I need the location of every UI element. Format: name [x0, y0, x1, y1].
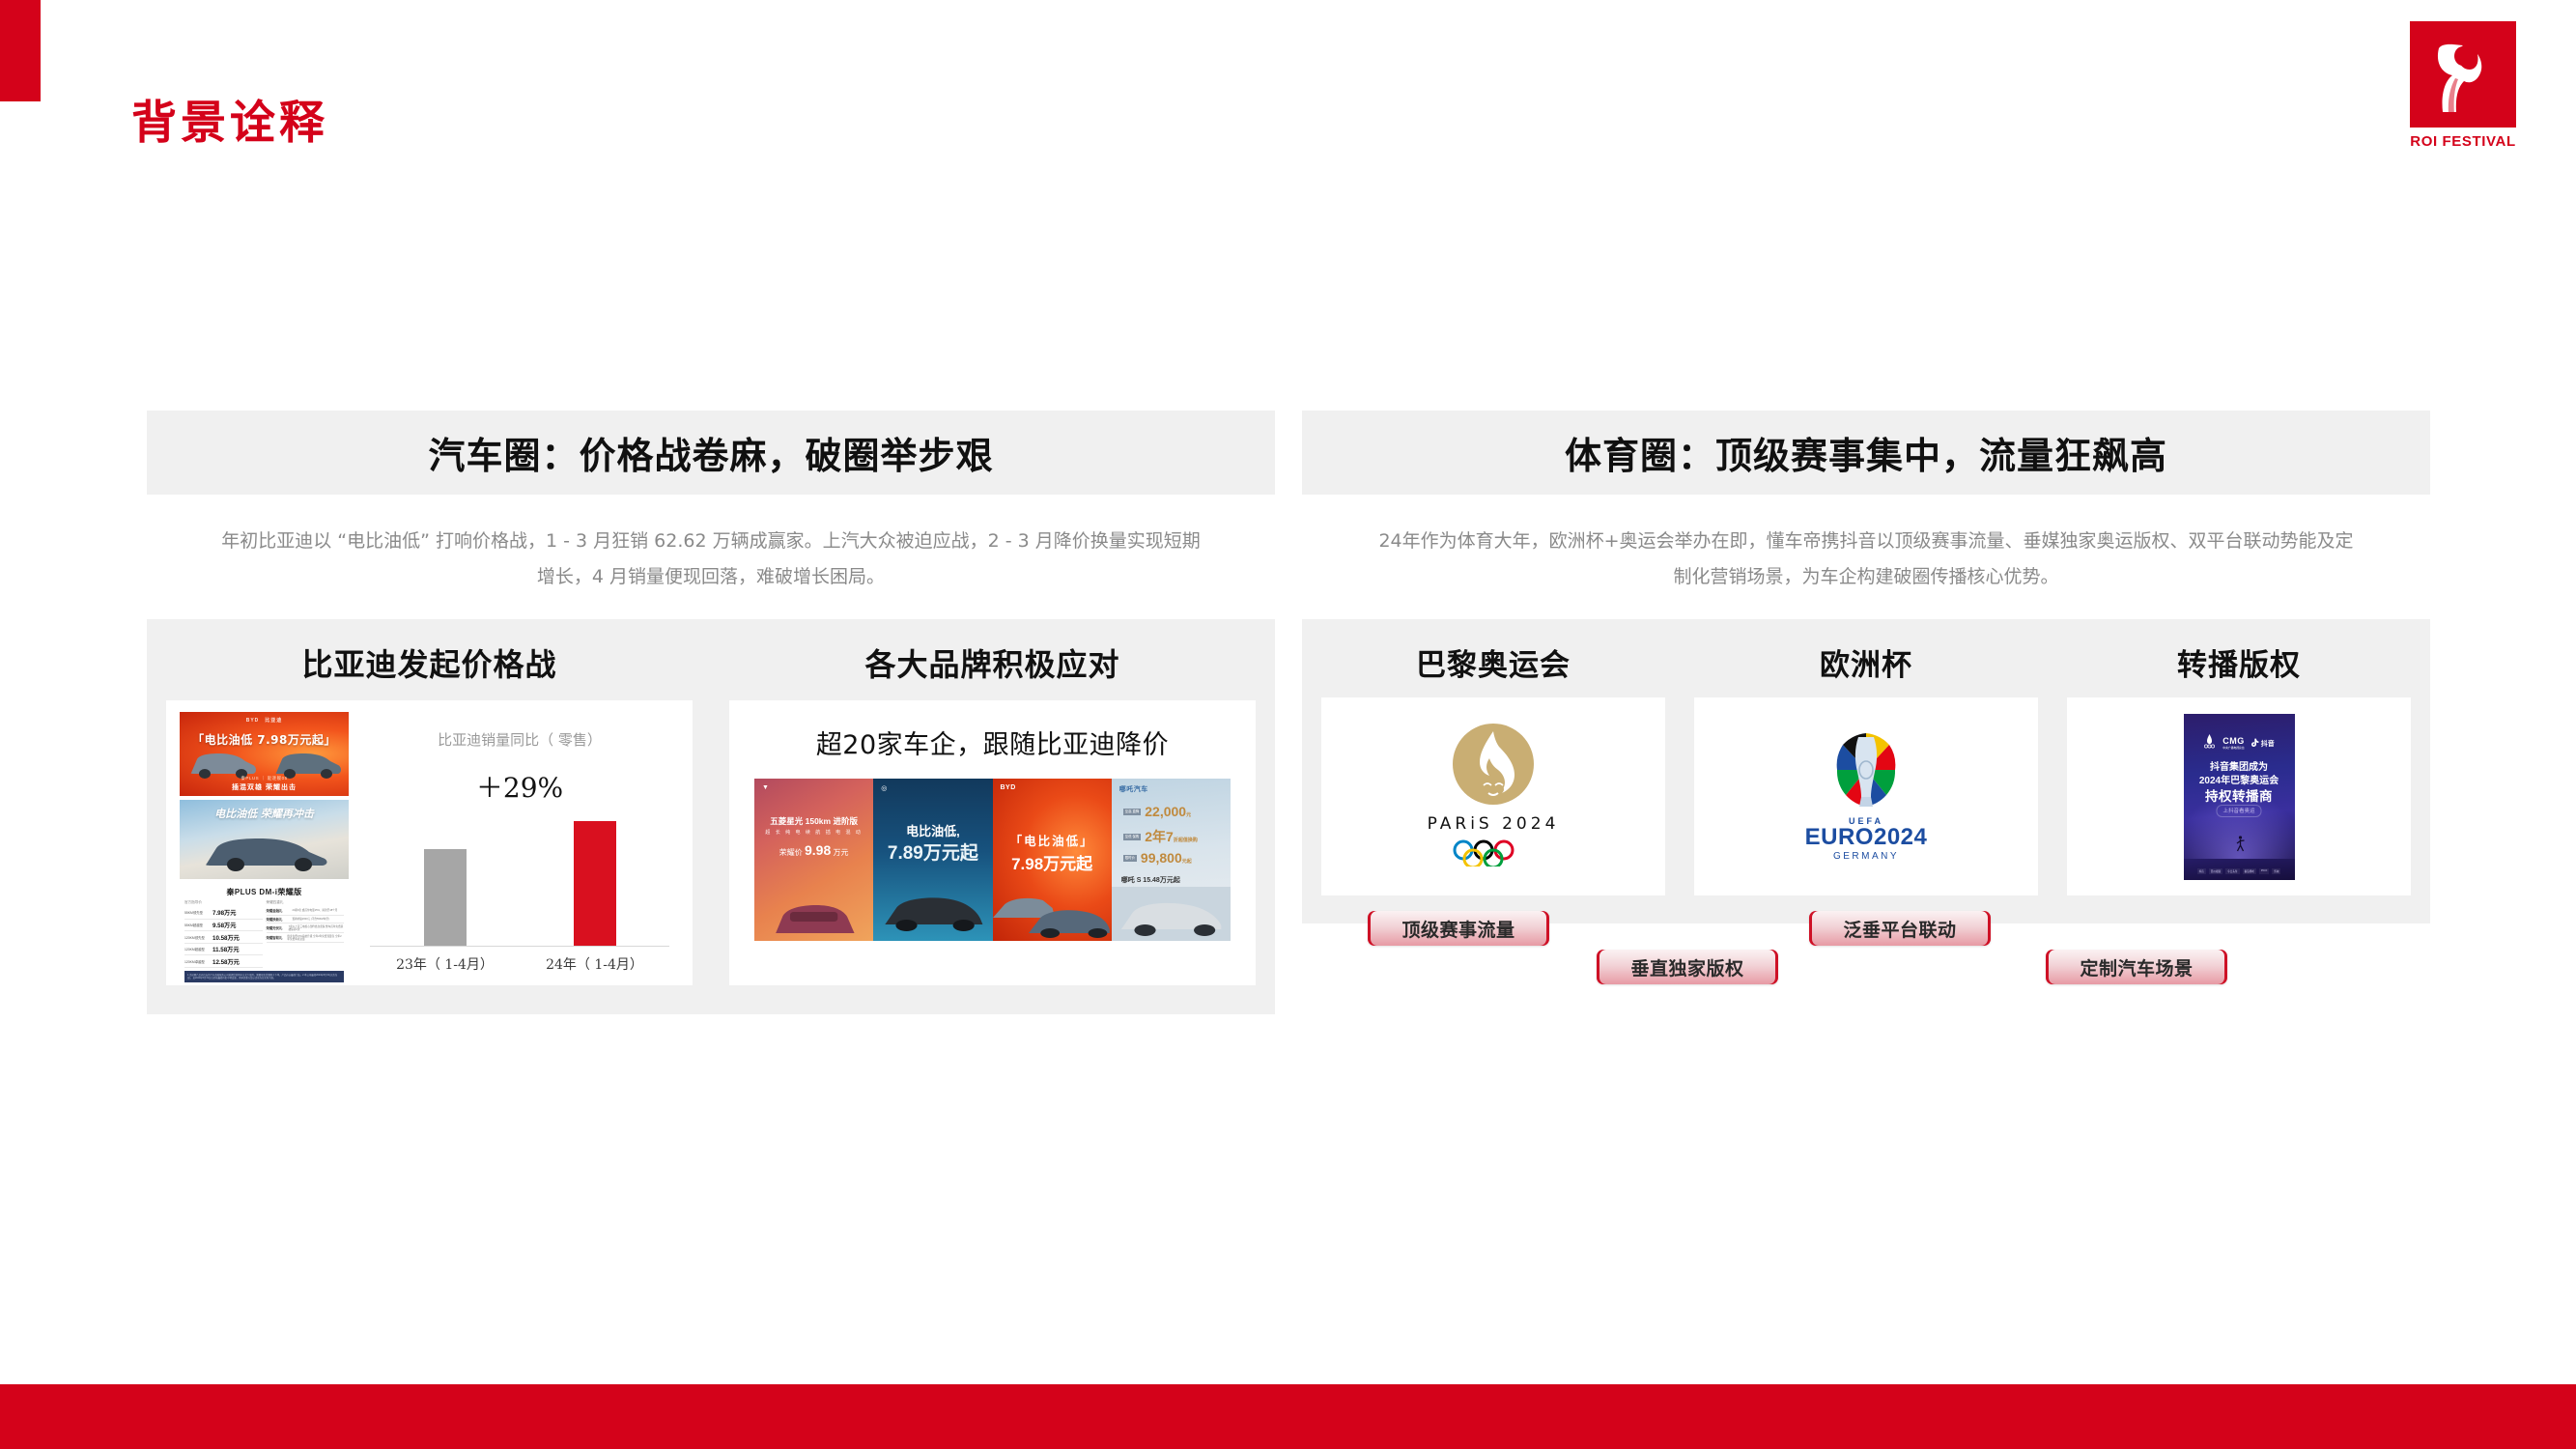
- byd-ad-slogan: 插混双雄 荣耀出击: [180, 782, 349, 792]
- chart-plot-area: [370, 810, 669, 947]
- nezha-offer-number: 22,000: [1145, 804, 1186, 819]
- nezha-offer-row: 至高 直降 22,000元: [1123, 804, 1223, 819]
- broadcast-rights-title: 转播版权: [2067, 640, 2411, 684]
- top-left-red-accent-bar: [0, 0, 41, 101]
- chart-bar-2023: [424, 849, 467, 946]
- euro-cup-logo-box: UEFA EURO2024 GERMANY: [1694, 697, 2038, 895]
- pill-platform-synergy[interactable]: 泛垂平台联动: [1809, 911, 1991, 946]
- wuling-ad-price: 荣耀价 9.98 万元: [754, 842, 873, 858]
- changan-logo-icon: ◎: [881, 784, 888, 792]
- byd-price: 12.58万元: [212, 957, 240, 966]
- byd-gift-name: 荣耀智联礼: [267, 935, 285, 940]
- byd-price: 11.58万元: [212, 945, 240, 953]
- cmg-subtitle: 中央广播电视总台: [2222, 746, 2245, 750]
- byd-gift-name: 荣耀金融礼: [267, 908, 290, 913]
- byd-sky-ad-script: 电比油低 荣耀再冲击: [180, 806, 349, 821]
- byd-price-column-header: 官方指导价: [184, 900, 263, 905]
- poster-footer-brand: PICO: [2259, 868, 2269, 874]
- byd-gift-desc: 24期0息 或首付电量15%、尾款至48个月: [293, 909, 338, 912]
- automotive-panel-body: 比亚迪发起价格战 BYD 比亚迪 「电比油低 7.98万元起」: [147, 619, 1275, 1014]
- roi-festival-logo-text: ROI FESTIVAL: [2410, 133, 2516, 150]
- wuling-price-value: 9.98: [805, 842, 831, 858]
- sports-panel: 体育圈：顶级赛事集中，流量狂飙高 24年作为体育大年，欧洲杯+奥运会举办在即，懂…: [1302, 411, 2430, 923]
- euro-host-country: GERMANY: [1805, 851, 1928, 862]
- byd-gift-column: 荣耀四重礼 荣耀金融礼 24期0息 或首付电量15%、尾款至48个月 荣耀换新礼…: [267, 900, 345, 968]
- chart-xtick: 23年（ 1-4月）: [396, 954, 494, 974]
- byd-price-table-title: 秦PLUS DM-i荣耀版: [184, 887, 344, 897]
- bottom-red-bar: [0, 1384, 2576, 1449]
- byd-gift-column-header: 荣耀四重礼: [267, 900, 345, 905]
- automotive-panel: 汽车圈：价格战卷麻，破圈举步艰 年初比亚迪以 “电比油低” 打响价格战，1 - …: [147, 411, 1275, 1014]
- nezha-offer-tag: 至低 保购: [1123, 834, 1142, 840]
- cmg-wordmark: CMG: [2222, 736, 2245, 746]
- sports-card-row: 巴黎奥运会 PARi: [1321, 640, 2411, 895]
- table-row: 55KM领先型 7.98万元: [184, 907, 263, 920]
- byd-spec: 55KM超越型: [184, 923, 210, 927]
- wuling-price-prefix: 荣耀价: [779, 848, 803, 857]
- paris-olympics-logo-box: PARiS 2024: [1321, 697, 1665, 895]
- broadcast-rights-card: 转播版权: [2067, 640, 2411, 895]
- nezha-offer-number: 99,800: [1141, 850, 1182, 866]
- brands-headline: 超20家车企，跟随比亚迪降价: [754, 724, 1231, 761]
- poster-line1: 抖音集团成为: [2184, 758, 2295, 773]
- pill-top-event-traffic[interactable]: 顶级赛事流量: [1368, 911, 1549, 946]
- chart-bar-2024: [574, 821, 616, 946]
- nezha-offer-unit: 元起: [1182, 859, 1192, 865]
- byd-gift-desc: 终身免费OTA系统升级 全年2年免费流量包 全年2年免费车机流量: [287, 935, 344, 941]
- wuling-price-unit: 万元: [833, 848, 848, 857]
- byd-strip-price: 7.98万元起: [993, 850, 1112, 874]
- nezha-offer-unit: 折超值换购: [1174, 838, 1198, 843]
- cmg-logo: CMG 中央广播电视总台: [2222, 736, 2245, 750]
- automotive-card-row: 比亚迪发起价格战 BYD 比亚迪 「电比油低 7.98万元起」: [166, 640, 1256, 985]
- byd-spec: 120KM领先型: [184, 935, 210, 940]
- euro-cup-title: 欧洲杯: [1694, 640, 2038, 684]
- byd-price-column: 官方指导价 55KM领先型 7.98万元 55KM超越型 9.58万元: [184, 900, 263, 968]
- byd-gift-desc: 置换补贴2600元 (不含55KM车型): [293, 918, 329, 921]
- byd-gift-name: 荣耀换新礼: [267, 917, 290, 922]
- wuling-ad-line2: 超 长 纯 电 续 航 插 电 混 动: [754, 829, 873, 836]
- nezha-model-price: 哪吒 S 15.48万元起: [1121, 875, 1180, 885]
- paris-2024-flame-marianne-icon: [1451, 722, 1536, 807]
- changan-car-illustration: [873, 884, 992, 937]
- byd-brand-row: BYD 比亚迪: [246, 717, 283, 724]
- brands-respond-card: 各大品牌积极应对 超20家车企，跟随比亚迪降价 ▼ 五菱星光 150km 进阶版…: [729, 640, 1256, 985]
- euro-trophy-icon: [1836, 731, 1896, 812]
- poster-runner-icon: [2236, 836, 2243, 851]
- automotive-panel-title: 汽车圈：价格战卷麻，破圈举步艰: [428, 426, 993, 479]
- byd-brand-mark-icon: BYD: [246, 718, 260, 724]
- douyin-logo: 抖音: [2251, 738, 2275, 749]
- pill-exclusive-rights[interactable]: 垂直独家版权: [1597, 950, 1778, 984]
- byd-ad-banner-strip: BYD 「电比油低」 7.98万元起: [993, 779, 1112, 941]
- euro-cup-card: 欧洲杯: [1694, 640, 2038, 895]
- byd-spec: 120KM卓越型: [184, 959, 210, 964]
- table-row: 55KM超越型 9.58万元: [184, 920, 263, 932]
- table-row: 120KM超越型 11.58万元: [184, 944, 263, 956]
- nezha-offer-value: 99,800元起: [1141, 850, 1192, 866]
- table-row: 荣耀无忧礼 7座以上首三电核心部件终身质保 整车首年免费基础保养2次: [267, 923, 345, 933]
- page-title: 背景诠释: [131, 85, 328, 152]
- douyin-olympic-poster: CMG 中央广播电视总台 抖音 抖音集团成为 2024年巴黎奥运会: [2184, 714, 2295, 880]
- poster-line2: 2024年巴黎奥运会: [2184, 772, 2295, 786]
- poster-line3: 持权转播商: [2184, 785, 2295, 805]
- byd-brand-name-cn: 比亚迪: [265, 717, 282, 724]
- wuling-ad-banner: ▼ 五菱星光 150km 进阶版 超 长 纯 电 续 航 插 电 混 动 荣耀价…: [754, 779, 873, 941]
- automotive-panel-description: 年初比亚迪以 “电比油低” 打响价格战，1 - 3 月狂销 62.62 万辆成赢…: [147, 524, 1275, 595]
- table-row: 120KM领先型 10.58万元: [184, 931, 263, 944]
- poster-footer-brand: 抖音: [2197, 868, 2206, 874]
- byd-price-war-card: 比亚迪发起价格战 BYD 比亚迪 「电比油低 7.98万元起」: [166, 640, 693, 985]
- table-row: 荣耀金融礼 24期0息 或首付电量15%、尾款至48个月: [267, 907, 345, 916]
- paris-2024-wordmark: PARiS 2024: [1428, 814, 1560, 834]
- byd-ad-models: 秦PLUS ｜ 驱逐舰05: [180, 776, 349, 781]
- chart-x-axis-labels: 23年（ 1-4月） 24年（ 1-4月）: [370, 954, 669, 974]
- byd-ad-column: BYD 比亚迪 「电比油低 7.98万元起」: [180, 712, 349, 974]
- poster-brand-row: CMG 中央广播电视总台 抖音: [2184, 733, 2295, 753]
- sports-panel-description: 24年作为体育大年，欧洲杯+奥运会举办在即，懂车帝携抖音以顶级赛事流量、垂媒独家…: [1302, 524, 2430, 595]
- byd-sky-ad-banner: 电比油低 荣耀再冲击: [180, 800, 349, 879]
- broadcast-rights-logo-box: CMG 中央广播电视总台 抖音 抖音集团成为 2024年巴黎奥运会: [2067, 697, 2411, 895]
- byd-strip-line1: 「电比油低」: [993, 831, 1112, 849]
- byd-card-content: BYD 比亚迪 「电比油低 7.98万元起」: [166, 700, 693, 985]
- byd-sales-bar-chart: 比亚迪销量同比（ 零售） ＋29% 23年（ 1-4月） 24年（ 1-4月）: [354, 712, 679, 974]
- brands-card-title: 各大品牌积极应对: [729, 640, 1256, 685]
- poster-footer-brand: 西瓜视频: [2209, 868, 2222, 874]
- table-row: 荣耀智联礼 终身免费OTA系统升级 全年2年免费流量包 全年2年免费车机流量: [267, 933, 345, 943]
- sports-panel-header: 体育圈：顶级赛事集中，流量狂飙高: [1302, 411, 2430, 495]
- changan-ad-banner: ◎ 电比油低, 7.89万元起: [873, 779, 992, 941]
- paris-olympics-title: 巴黎奥运会: [1321, 640, 1665, 684]
- brands-card-content: 超20家车企，跟随比亚迪降价 ▼ 五菱星光 150km 进阶版 超 长 纯 电 …: [729, 700, 1256, 985]
- nezha-offer-unit: 元: [1186, 812, 1191, 818]
- wuling-ad-line1: 五菱星光 150km 进阶版: [754, 815, 873, 827]
- poster-footer-brand: 番茄畅听: [2243, 868, 2256, 874]
- changan-ad-price: 7.89万元起: [873, 838, 992, 865]
- poster-footer-brand: 今日头条: [2225, 868, 2239, 874]
- nezha-offer-row: 至低 保购 2年7折超值换购: [1123, 827, 1223, 846]
- byd-orange-ad-banner: BYD 比亚迪 「电比油低 7.98万元起」: [180, 712, 349, 796]
- roi-festival-mark-icon: [2410, 21, 2516, 128]
- olympic-rings-icon: [1428, 839, 1560, 871]
- nezha-offer-number: 2年7: [1145, 829, 1174, 844]
- nezha-offer-tag: 至高 直降: [1123, 809, 1142, 815]
- sports-panel-title: 体育圈：顶级赛事集中，流量狂飙高: [1565, 426, 2167, 479]
- poster-tagline: 上抖音看奥运: [2216, 805, 2261, 817]
- chart-title: 比亚迪销量同比（ 零售）: [370, 729, 669, 750]
- table-row: 120KM卓越型 12.58万元: [184, 955, 263, 968]
- byd-gift-name: 荣耀无忧礼: [267, 925, 286, 930]
- byd-spec: 120KM超越型: [184, 947, 210, 952]
- brand-banner-strip: ▼ 五菱星光 150km 进阶版 超 长 纯 电 续 航 插 电 混 动 荣耀价…: [754, 779, 1231, 941]
- euro-2024-wordmark: EURO2024: [1805, 826, 1928, 849]
- nezha-offer-value: 2年7折超值换购: [1145, 827, 1198, 846]
- euro-2024-logo: UEFA EURO2024 GERMANY: [1805, 731, 1928, 862]
- wuling-logo-icon: ▼: [762, 784, 769, 791]
- byd-price-table: 秦PLUS DM-i荣耀版 官方指导价 55KM领先型 7.98万元: [180, 883, 349, 974]
- byd-sedan-illustration: [180, 829, 349, 873]
- nezha-offer-value: 22,000元: [1145, 804, 1191, 819]
- paris-olympics-card: 巴黎奥运会 PARi: [1321, 640, 1665, 895]
- paris-2024-small-icon: [2203, 733, 2216, 753]
- changan-ad-line1: 电比油低,: [873, 821, 992, 839]
- advantage-pill-group: 顶级赛事流量 垂直独家版权 泛垂平台联动 定制汽车场景: [1321, 905, 2411, 1009]
- nezha-car-illustration: [1112, 887, 1231, 941]
- byd-gift-desc: 7座以上首三电核心部件终身质保 整车首年免费基础保养2次: [289, 925, 344, 931]
- nezha-offer-tag: 限时价: [1123, 855, 1137, 862]
- chart-xtick: 24年（ 1-4月）: [546, 954, 643, 974]
- sports-panel-body: 巴黎奥运会 PARi: [1302, 619, 2430, 923]
- roi-festival-logo: ROI FESTIVAL: [2410, 21, 2516, 150]
- paris-2024-logo: PARiS 2024: [1428, 722, 1560, 871]
- byd-logo-icon: BYD: [1001, 784, 1016, 791]
- poster-footer-brand: 剪映: [2272, 868, 2280, 874]
- table-row: 荣耀换新礼 置换补贴2600元 (不含55KM车型): [267, 916, 345, 924]
- byd-spec: 55KM领先型: [184, 910, 210, 915]
- chart-annotation: ＋29%: [370, 767, 669, 806]
- byd-card-title: 比亚迪发起价格战: [166, 640, 693, 685]
- byd-price: 7.98万元: [212, 908, 236, 917]
- nezha-logo-icon: 哪吒汽车: [1119, 784, 1148, 794]
- wuling-car-illustration: [754, 883, 873, 941]
- douyin-wordmark: 抖音: [2261, 741, 2275, 748]
- byd-price-disclaimer: 1.活动期产品价仅支持汽车金融服务公司按揭贷款购车方式下使用，限量现金优惠限于下…: [184, 971, 344, 981]
- nezha-ad-banner: 哪吒汽车 至高 直降 22,000元 至低 保购 2年7折超值换购 限时价: [1112, 779, 1231, 941]
- automotive-panel-header: 汽车圈：价格战卷麻，破圈举步艰: [147, 411, 1275, 495]
- poster-footer-brands: 抖音 西瓜视频 今日头条 番茄畅听 PICO 剪映: [2190, 868, 2289, 874]
- byd-price: 10.58万元: [212, 933, 240, 942]
- byd-strip-cars-illustration: [993, 885, 1112, 941]
- pill-custom-auto-scenario[interactable]: 定制汽车场景: [2046, 950, 2227, 984]
- byd-price: 9.58万元: [212, 921, 236, 929]
- nezha-offer-row: 限时价 99,800元起: [1123, 850, 1223, 866]
